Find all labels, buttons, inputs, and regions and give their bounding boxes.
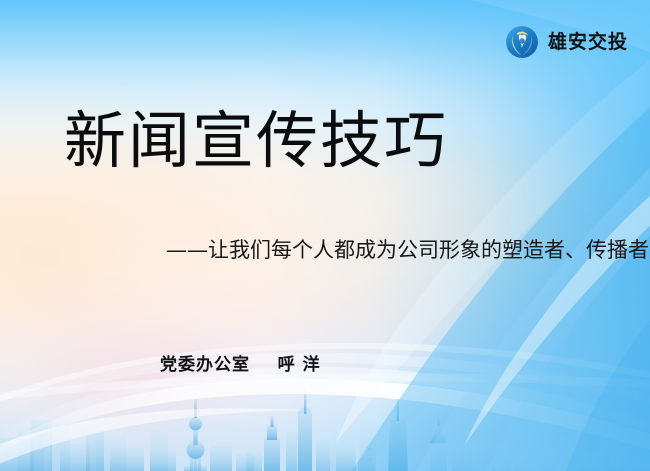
- brand-name: 雄安交投: [548, 33, 628, 52]
- slide-title: 新闻宣传技巧: [64, 108, 448, 173]
- slide-subtitle: ——让我们每个人都成为公司形象的塑造者、传播者: [166, 239, 649, 262]
- background-ribbons: [0, 0, 650, 471]
- xiongan-jiaotou-circle-logo: [505, 25, 539, 59]
- brand-lockup: 雄安交投: [505, 25, 628, 59]
- slide-byline: 党委办公室 呼 洋: [160, 356, 321, 375]
- presentation-slide: 雄安交投 新闻宣传技巧 ——让我们每个人都成为公司形象的塑造者、传播者 党委办公…: [0, 0, 650, 471]
